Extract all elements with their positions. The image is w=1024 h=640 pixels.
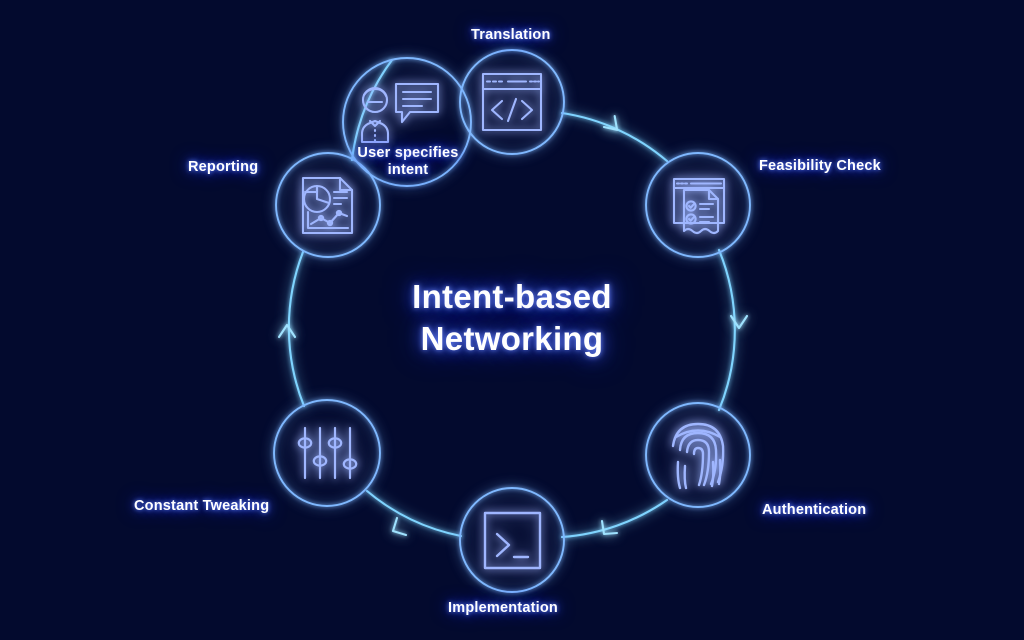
terminal-icon — [485, 513, 540, 568]
fingerprint-icon — [673, 424, 723, 488]
node-feasibility-check[interactable] — [646, 153, 750, 257]
node-circle-user-specifies-intent[interactable] — [343, 58, 471, 186]
node-implementation[interactable] — [460, 488, 564, 592]
arrowhead-reporting-user — [279, 325, 295, 337]
checklist-document-icon — [674, 179, 724, 233]
user-chat-icon — [362, 84, 438, 142]
node-circle-implementation[interactable] — [460, 488, 564, 592]
arc-implementation-tweaking — [367, 491, 461, 536]
node-authentication[interactable] — [646, 403, 750, 507]
cycle-diagram-svg — [0, 0, 1024, 640]
node-circle-constant-tweaking[interactable] — [274, 400, 380, 506]
report-chart-document-icon — [303, 178, 352, 233]
diagram-canvas: Intent-based Networking Translation User… — [0, 0, 1024, 640]
arrowhead-feasibility-authentication — [731, 316, 747, 328]
node-circle-feasibility-check[interactable] — [646, 153, 750, 257]
node-circle-translation[interactable] — [460, 50, 564, 154]
code-window-icon — [483, 74, 541, 130]
node-user-specifies-intent[interactable] — [343, 58, 471, 186]
arc-reporting-user — [352, 60, 392, 160]
arc-feasibility-authentication — [719, 250, 735, 410]
arrowhead-implementation-tweaking — [393, 518, 406, 535]
arc-tweaking-reporting — [289, 252, 304, 406]
node-constant-tweaking[interactable] — [274, 400, 380, 506]
node-circle-authentication[interactable] — [646, 403, 750, 507]
node-translation[interactable] — [460, 50, 564, 154]
sliders-icon — [299, 428, 356, 478]
arc-authentication-implementation — [562, 500, 667, 537]
